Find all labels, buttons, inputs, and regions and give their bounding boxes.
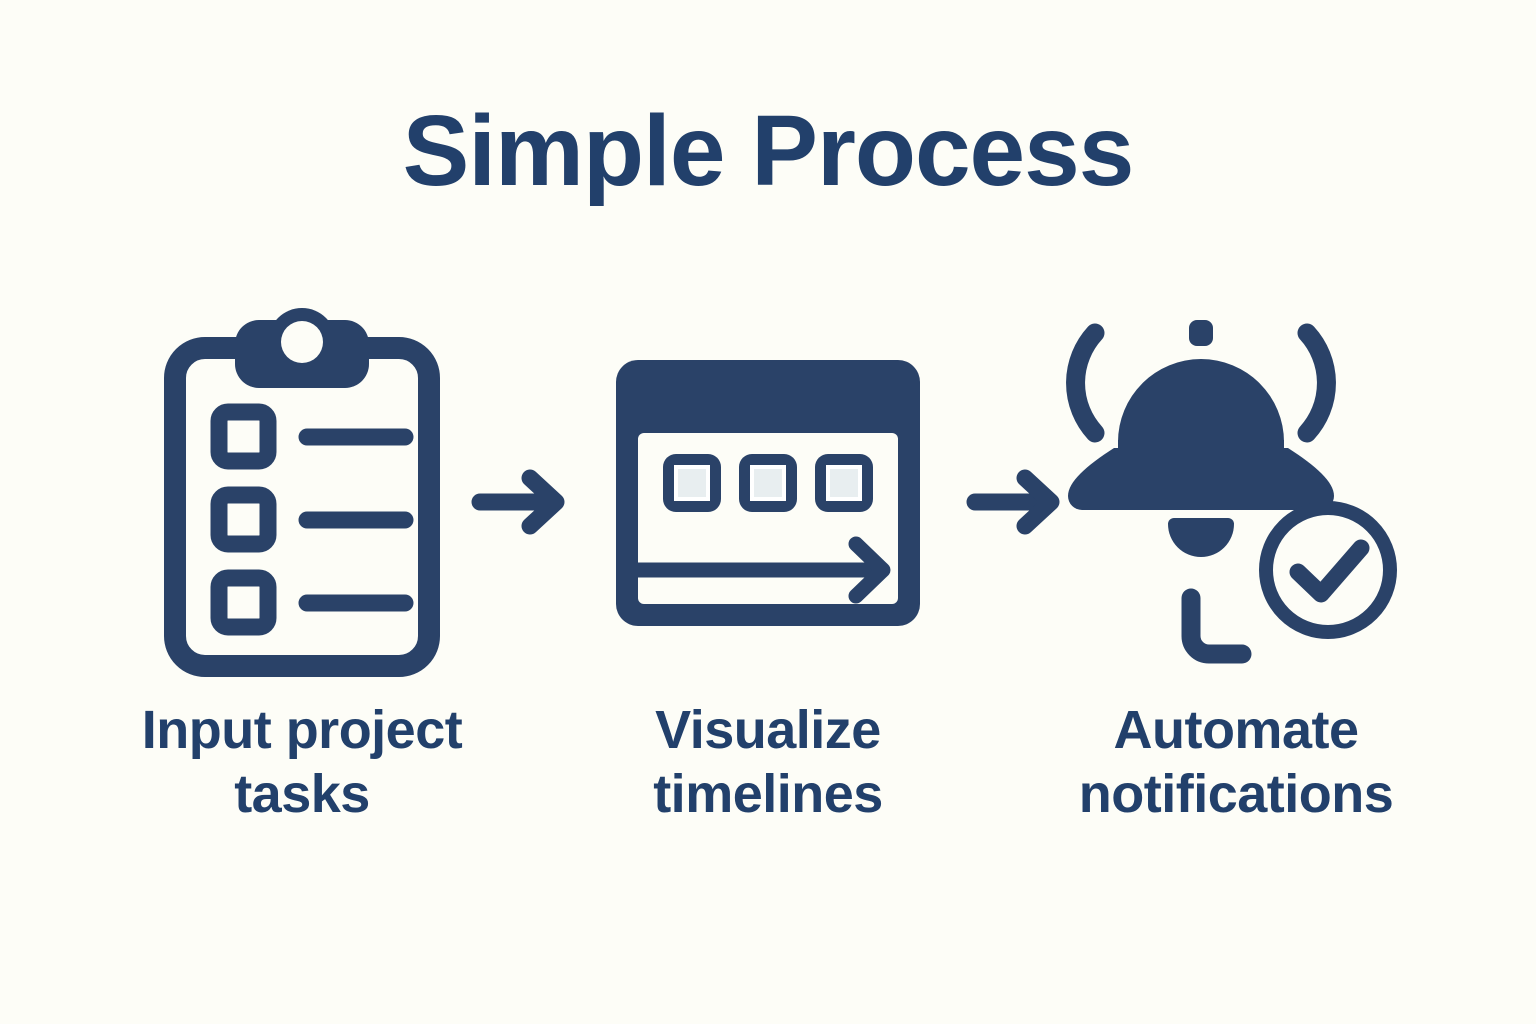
process-infographic: Simple Process [0,0,1536,1024]
step-3-label-line-2: notifications [1006,762,1466,826]
arrow-right-icon [963,462,1073,542]
arrow-right-icon [468,462,578,542]
step-2-label: Visualize timelines [538,698,998,826]
clipboard-checklist-icon [157,280,447,680]
step-3-label-line-1: Automate [1006,698,1466,762]
connector-arrow-1 [468,462,578,542]
step-1-label-line-2: tasks [72,762,532,826]
step-2-label-line-1: Visualize [538,698,998,762]
process-steps-row: Input project tasks [0,280,1536,880]
step-3-icon-container [1006,280,1466,680]
process-step-2: Visualize timelines [538,280,998,880]
connector-arrow-2 [963,462,1073,542]
bell-notification-check-icon [1056,280,1416,680]
step-1-label: Input project tasks [72,698,532,826]
step-2-icon-container [538,280,998,680]
step-2-label-line-2: timelines [538,762,998,826]
process-step-3: Automate notifications [1006,280,1466,880]
step-1-label-line-1: Input project [72,698,532,762]
calendar-timeline-icon [608,280,928,680]
step-1-icon-container [72,280,532,680]
step-3-label: Automate notifications [1006,698,1466,826]
process-step-1: Input project tasks [72,280,532,880]
page-title: Simple Process [0,96,1536,206]
